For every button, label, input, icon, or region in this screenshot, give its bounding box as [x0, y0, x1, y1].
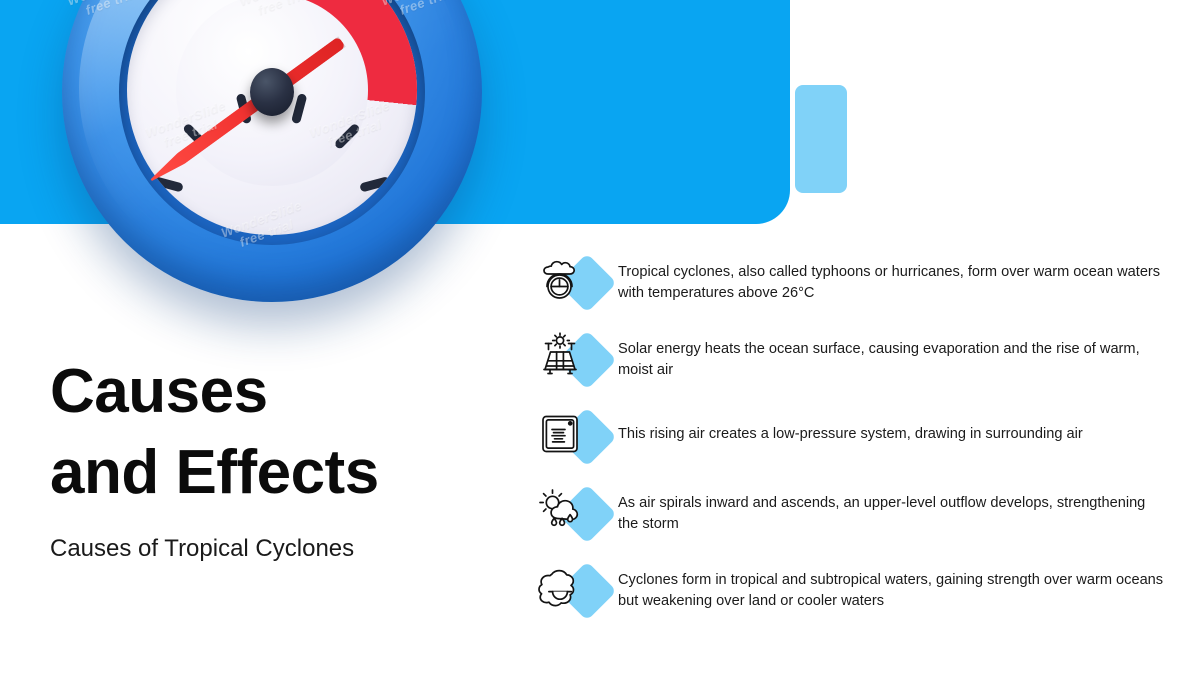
list-item: Solar energy heats the ocean surface, ca…	[528, 325, 1168, 393]
icon-slot	[528, 479, 618, 547]
list-item-text: As air spirals inward and ascends, an up…	[618, 479, 1168, 535]
list-item: As air spirals inward and ascends, an up…	[528, 479, 1168, 547]
icon-slot	[528, 402, 618, 470]
page-title: Causes and Effects	[50, 352, 520, 513]
gauge-dial-face	[127, 0, 417, 235]
list-item-text: Tropical cyclones, also called typhoons …	[618, 248, 1168, 304]
title-block: Causes and Effects Causes of Tropical Cy…	[50, 352, 520, 564]
cumulus-cloud-icon	[532, 560, 588, 616]
barometer-clouds-icon	[532, 252, 588, 308]
solar-panel-icon	[532, 329, 588, 385]
list-item: Tropical cyclones, also called typhoons …	[528, 248, 1168, 316]
icon-slot	[528, 248, 618, 316]
bullet-list: Tropical cyclones, also called typhoons …	[528, 248, 1168, 624]
list-item: This rising air creates a low-pressure s…	[528, 402, 1168, 470]
list-item-text: Solar energy heats the ocean surface, ca…	[618, 325, 1168, 381]
gauge-center-hub	[250, 68, 294, 116]
page-title-line-1: Causes	[50, 352, 520, 433]
sun-cloud-rain-icon	[532, 483, 588, 539]
list-item: Cyclones form in tropical and subtropica…	[528, 556, 1168, 624]
page-title-line-2: and Effects	[50, 433, 520, 514]
list-item-text: Cyclones form in tropical and subtropica…	[618, 556, 1168, 612]
page-subtitle: Causes of Tropical Cyclones	[50, 535, 520, 564]
pressure-gauge-illustration: WonderSlide free trial WonderSlide free …	[62, 0, 482, 302]
accent-rectangle	[795, 85, 847, 193]
weather-display-screen-icon	[532, 406, 588, 462]
icon-slot	[528, 556, 618, 624]
icon-slot	[528, 325, 618, 393]
list-item-text: This rising air creates a low-pressure s…	[618, 402, 1168, 445]
slide-canvas: WonderSlide free trial WonderSlide free …	[0, 0, 1200, 675]
